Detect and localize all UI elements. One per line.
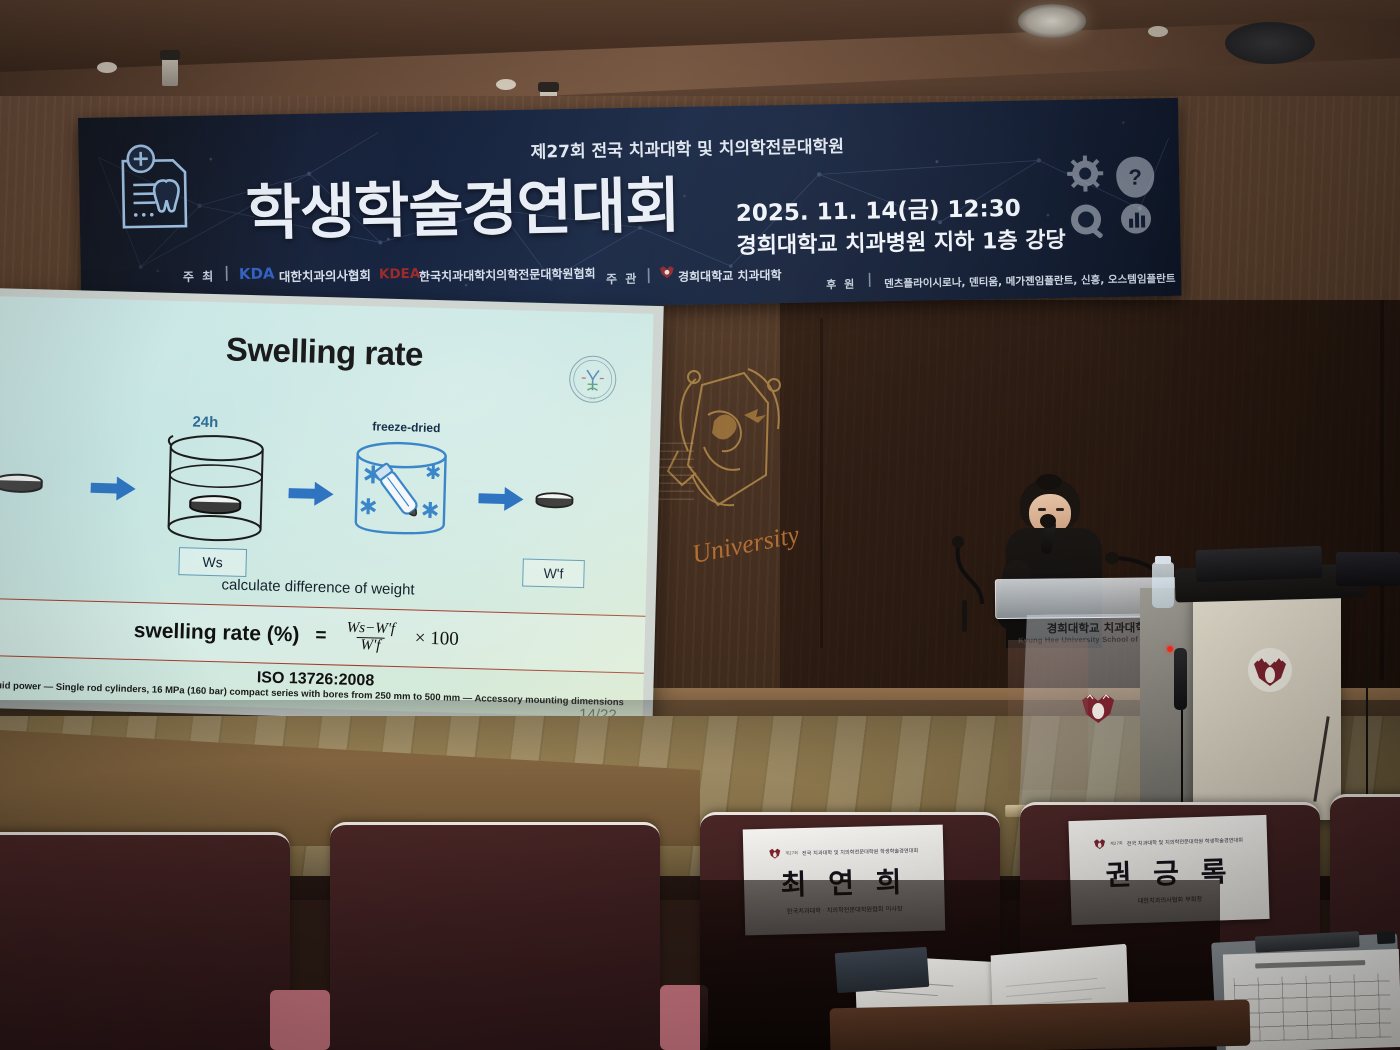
side-monitor [1336,552,1400,586]
sample-disc-icon-2 [532,491,577,512]
placard-crest-icon-1 [768,848,781,860]
placard-crest-icon-2 [1093,838,1106,850]
svg-text:1949: 1949 [589,396,596,400]
wall-seam-3 [1380,300,1384,680]
placard-header-prefix-1: 제27회 [785,850,798,856]
booklet-backing-board [835,947,930,993]
handheld-microphone-head [1040,514,1056,528]
speaker-eye-left [1038,508,1046,511]
pendant-light-1 [162,56,178,86]
slide-title: Swelling rate [0,324,653,380]
av-cable-2 [1366,620,1368,800]
gooseneck-mic-left [948,528,988,608]
clipboard-schedule-grid [1234,973,1392,1042]
seat-cushion-1 [270,990,330,1050]
process-arrow-3 [478,485,525,512]
av-console [1193,592,1341,820]
clipboard-clip-small [1377,931,1396,944]
slide-label-24h: 24h [192,413,218,431]
swelling-rate-formula-box: swelling rate (%) = Ws−W'f W'f × 100 [0,598,651,674]
ceiling-speaker-grille [1225,22,1315,64]
confidence-monitor [1195,546,1322,582]
placard-header-text-2: 전국 치과대학 및 치의학전문대학원 학생학술경연대회 [1127,836,1244,847]
handheld-mic-on-stand [1174,648,1187,710]
console-crest-icon [1248,648,1292,692]
formula-denominator: W'f [356,636,384,653]
formula-equals: = [315,625,327,647]
projection-screen-frame: Swelling rate 1949 24h freeze-dried [0,288,664,726]
ceiling-vent-small-3 [496,79,516,90]
wall-seam-2 [820,318,823,648]
ceiling-vent-small [1148,26,1168,37]
wall-engraving-text: University [690,520,802,569]
water-bottle [1152,562,1174,608]
slide-label-freeze-dried: freeze-dried [372,419,440,435]
ceiling-downlight [1018,4,1086,38]
weight-box-wf: W'f [522,558,585,588]
auditorium-seat-1[interactable] [0,832,290,1050]
process-arrow-2 [288,480,335,507]
formula-fraction: Ws−W'f W'f [342,620,399,654]
sample-disc-icon-1 [0,471,47,499]
speaker-hair-bun [1036,474,1062,490]
foreground-desk-edge [830,1000,1251,1050]
university-seal-logo: 1949 [567,354,618,405]
formula-numerator: Ws−W'f [343,620,400,637]
auditorium-seat-2[interactable] [330,822,660,1050]
process-arrow-1 [90,475,137,502]
projected-slide: Swelling rate 1949 24h freeze-dried [0,296,654,718]
placard-header-prefix-2: 제27회 [1110,840,1123,846]
speaker-eye-right [1056,508,1064,511]
beaker-icon [159,431,272,552]
pendant-light-1-head [160,50,180,60]
placard-header-1: 제27회 전국 치과대학 및 치의학전문대학원 학생학술경연대회 [768,844,918,860]
placard-header-2: 제27회 전국 치과대학 및 치의학전문대학원 학생학술경연대회 [1093,834,1243,851]
placard-header-text-1: 전국 치과대학 및 치의학전문대학원 학생학술경연대회 [802,847,919,857]
formula-tail: × 100 [415,628,460,651]
formula-lead: swelling rate (%) [133,619,299,647]
ceiling-vent-small-4 [97,62,117,73]
podium-reflection [1008,640,1088,790]
lecture-hall-photo: University [0,0,1400,1050]
rack-power-led [1167,646,1173,652]
weight-box-ws: Ws [178,547,247,577]
event-banner: 제27회 전국 치과대학 및 치의학전문대학원 학생학술경연대회 2025. 1… [78,98,1181,316]
pendant-light-2-head [538,82,559,92]
banner-sheen [78,98,1181,316]
water-bottle-cap [1155,556,1171,564]
clipboard-title-line [1255,960,1365,968]
freeze-dryer-icon [347,438,454,551]
